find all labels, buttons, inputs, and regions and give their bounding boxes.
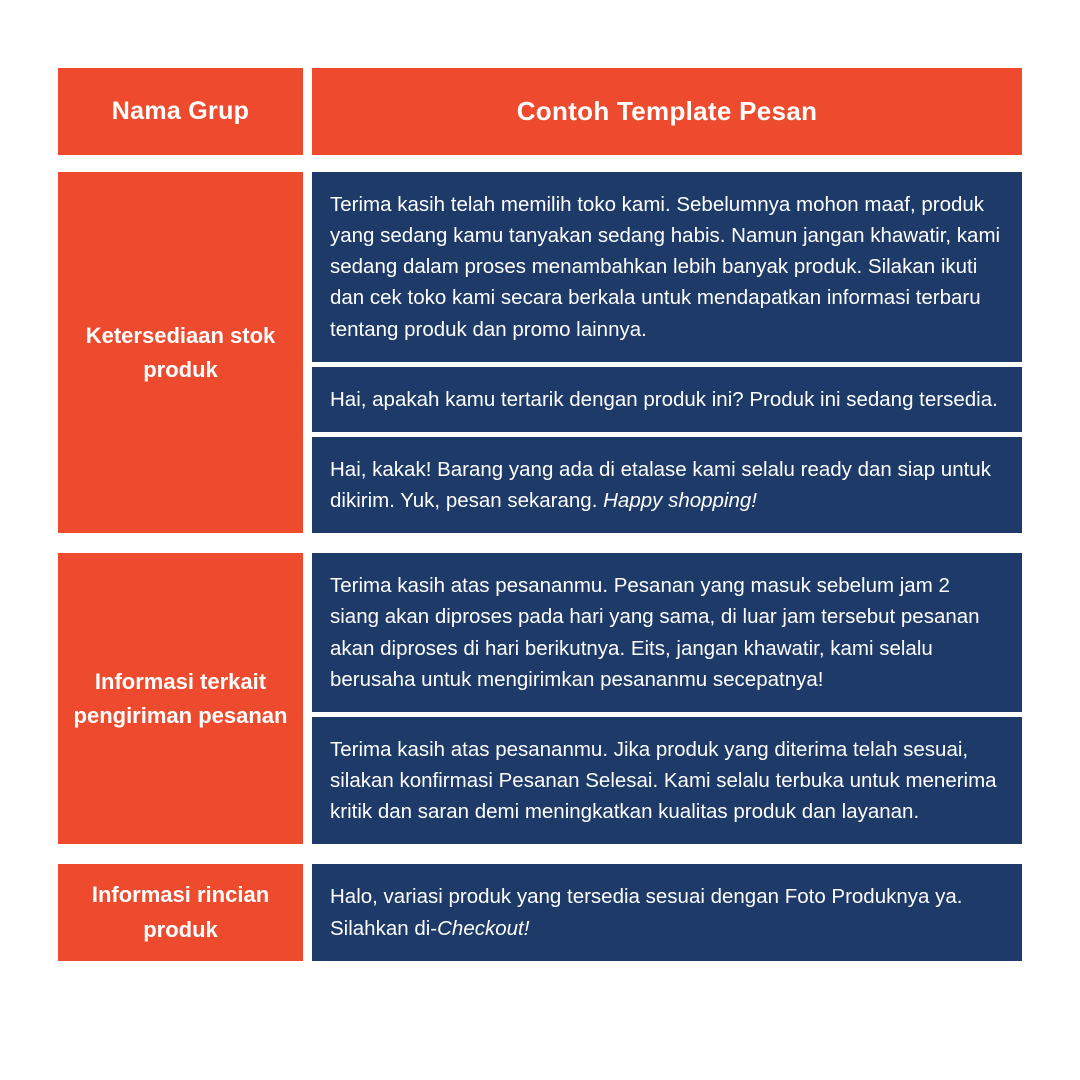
group-name-cell: Informasi rincian produk	[58, 864, 303, 960]
group-name-cell: Informasi terkait pengiriman pesanan	[58, 553, 303, 844]
message-template-block: Terima kasih atas pesananmu. Pesanan yan…	[312, 553, 1022, 712]
table-header-row: Nama Grup Contoh Template Pesan	[58, 68, 1022, 155]
message-emphasis-text: Checkout!	[437, 917, 529, 940]
table-row: Ketersediaan stok produkTerima kasih tel…	[58, 172, 1022, 533]
group-name-cell: Ketersediaan stok produk	[58, 172, 303, 533]
message-text: Hai, apakah kamu tertarik dengan produk …	[330, 388, 998, 411]
header-cell-group-name: Nama Grup	[58, 68, 303, 155]
message-text: Terima kasih atas pesananmu. Pesanan yan…	[330, 574, 980, 690]
message-template-table: Nama Grup Contoh Template Pesan Ketersed…	[58, 68, 1022, 961]
message-template-block: Terima kasih telah memilih toko kami. Se…	[312, 172, 1022, 362]
message-text: Terima kasih telah memilih toko kami. Se…	[330, 193, 1000, 341]
table-row: Informasi terkait pengiriman pesananTeri…	[58, 553, 1022, 844]
table-row: Informasi rincian produkHalo, variasi pr…	[58, 864, 1022, 960]
message-list: Terima kasih telah memilih toko kami. Se…	[312, 172, 1022, 533]
message-template-block: Hai, apakah kamu tertarik dengan produk …	[312, 367, 1022, 432]
message-list: Terima kasih atas pesananmu. Pesanan yan…	[312, 553, 1022, 844]
message-template-block: Terima kasih atas pesananmu. Jika produk…	[312, 717, 1022, 844]
message-emphasis-text: Happy shopping!	[603, 489, 757, 512]
message-text: Halo, variasi produk yang tersedia sesua…	[330, 885, 962, 939]
message-template-block: Hai, kakak! Barang yang ada di etalase k…	[312, 437, 1022, 533]
message-template-block: Halo, variasi produk yang tersedia sesua…	[312, 864, 1022, 960]
table-body: Ketersediaan stok produkTerima kasih tel…	[58, 172, 1022, 961]
message-list: Halo, variasi produk yang tersedia sesua…	[312, 864, 1022, 960]
message-text: Terima kasih atas pesananmu. Jika produk…	[330, 738, 997, 823]
header-cell-message-template: Contoh Template Pesan	[312, 68, 1022, 155]
